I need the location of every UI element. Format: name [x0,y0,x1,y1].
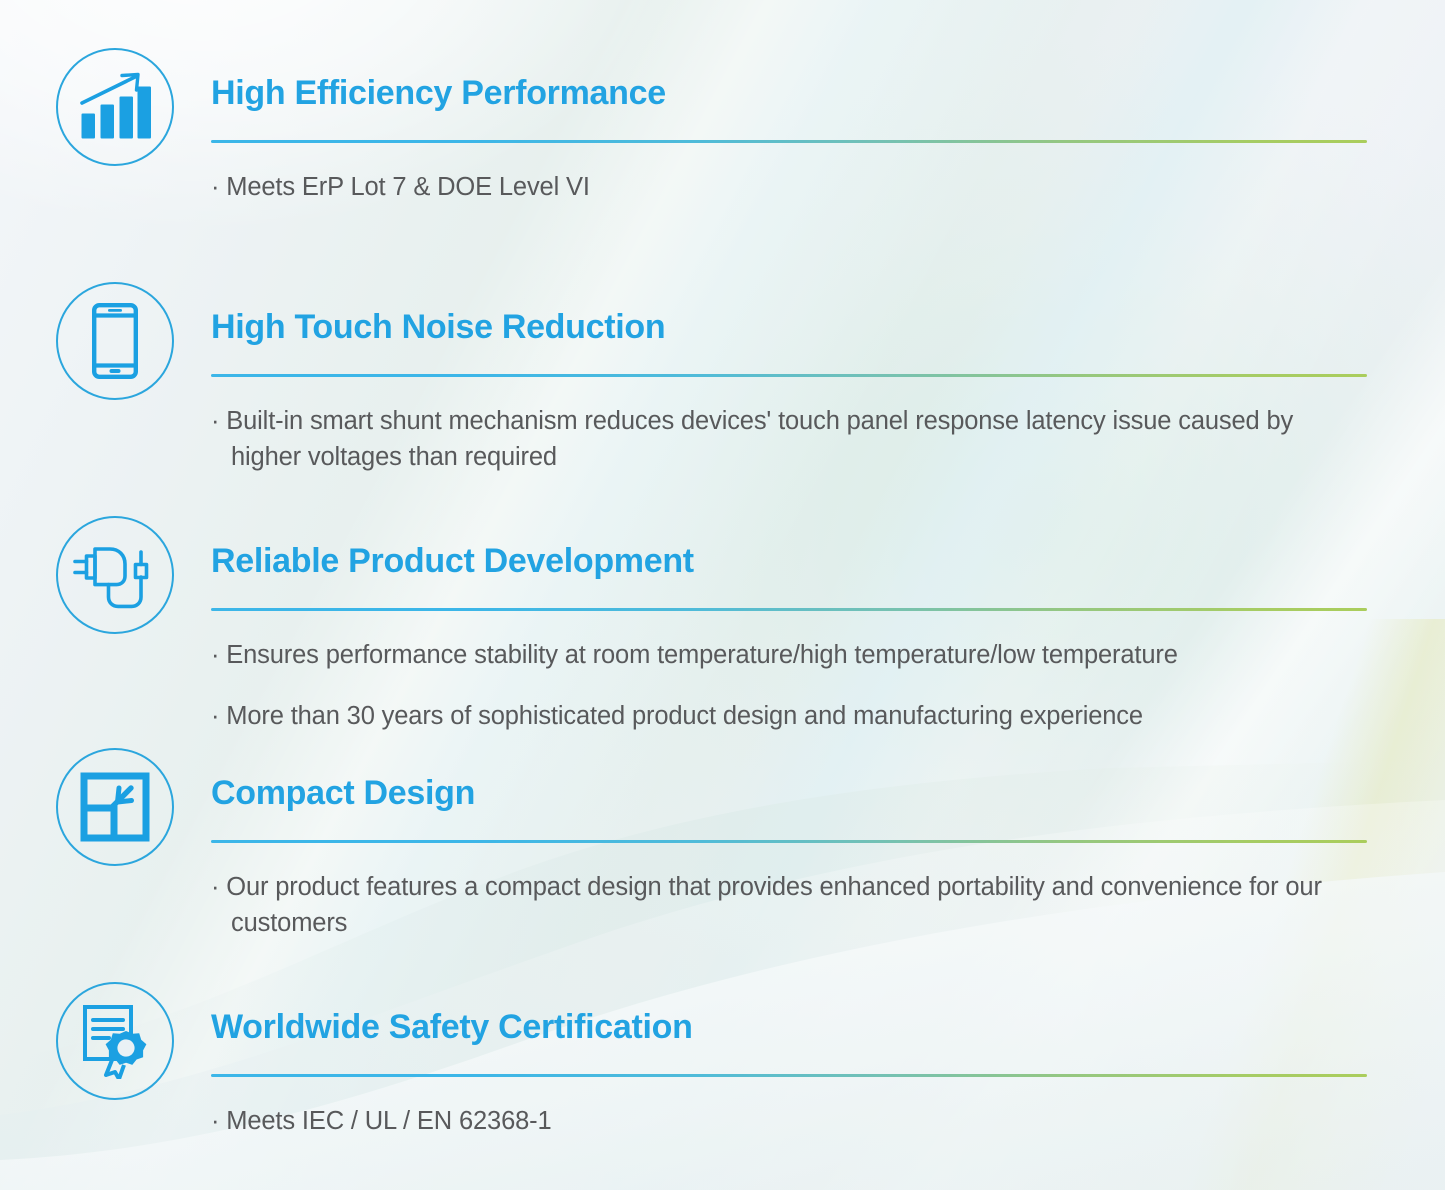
feature-icon-wrap [52,982,178,1100]
compact-resize-icon [56,748,174,866]
feature-item-high-efficiency-performance: High Efficiency Performance · Meets ErP … [0,48,1445,230]
bullet-item: · Meets IEC / UL / EN 62368-1 [211,1103,1367,1139]
feature-icon-wrap [52,748,178,866]
feature-icon-wrap [52,282,178,400]
bullet-item: · Our product features a compact design … [211,869,1331,941]
bullet-marker: · [211,173,219,201]
feature-item-worldwide-safety-certification: Worldwide Safety Certification · Meets I… [0,982,1445,1164]
bullet-marker: · [211,641,219,669]
bullet-text: Ensures performance stability at room te… [226,641,1177,669]
feature-divider [211,840,1367,843]
bullet-text: Meets IEC / UL / EN 62368-1 [226,1107,551,1135]
bullet-item: · Ensures performance stability at room … [211,637,1367,673]
feature-item-high-touch-noise-reduction: High Touch Noise Reduction · Built-in sm… [0,282,1445,501]
feature-bullets: · Our product features a compact design … [211,869,1367,941]
feature-divider [211,608,1367,611]
feature-body: Compact Design · Our product features a … [211,748,1445,967]
feature-icon-wrap [52,516,178,634]
bullet-item: · Built-in smart shunt mechanism reduces… [211,403,1367,475]
smartphone-icon [56,282,174,400]
bullet-text: Our product features a compact design th… [226,873,1322,937]
feature-divider [211,140,1367,143]
feature-divider [211,1074,1367,1077]
certificate-award-icon [56,982,174,1100]
feature-bullets: · Ensures performance stability at room … [211,637,1367,735]
bullet-marker: · [211,1107,219,1135]
feature-body: Worldwide Safety Certification · Meets I… [211,982,1445,1164]
feature-bullets: · Built-in smart shunt mechanism reduces… [211,403,1367,475]
feature-item-reliable-product-development: Reliable Product Development · Ensures p… [0,516,1445,760]
bullet-text: Built-in smart shunt mechanism reduces d… [226,407,1293,471]
feature-bullets: · Meets IEC / UL / EN 62368-1 [211,1103,1367,1139]
feature-title: Compact Design [211,776,1367,812]
bullet-marker: · [211,873,219,901]
feature-bullets: · Meets ErP Lot 7 & DOE Level VI [211,169,1367,205]
feature-title: Reliable Product Development [211,544,1367,580]
bullet-item: · Meets ErP Lot 7 & DOE Level VI [211,169,1367,205]
feature-item-compact-design: Compact Design · Our product features a … [0,748,1445,967]
feature-title: Worldwide Safety Certification [211,1010,1367,1046]
feature-divider [211,374,1367,377]
bullet-item: · More than 30 years of sophisticated pr… [211,698,1367,734]
bullet-text: More than 30 years of sophisticated prod… [226,702,1143,730]
power-adapter-icon [56,516,174,634]
bullet-marker: · [211,702,219,730]
feature-icon-wrap [52,48,178,166]
feature-body: Reliable Product Development · Ensures p… [211,516,1445,760]
bar-chart-growth-icon [56,48,174,166]
feature-body: High Touch Noise Reduction · Built-in sm… [211,282,1445,501]
feature-title: High Touch Noise Reduction [211,310,1367,346]
feature-title: High Efficiency Performance [211,76,1367,112]
bullet-marker: · [211,407,219,435]
feature-body: High Efficiency Performance · Meets ErP … [211,48,1445,230]
feature-highlights-page: High Efficiency Performance · Meets ErP … [0,0,1445,1190]
bullet-text: Meets ErP Lot 7 & DOE Level VI [226,173,590,201]
